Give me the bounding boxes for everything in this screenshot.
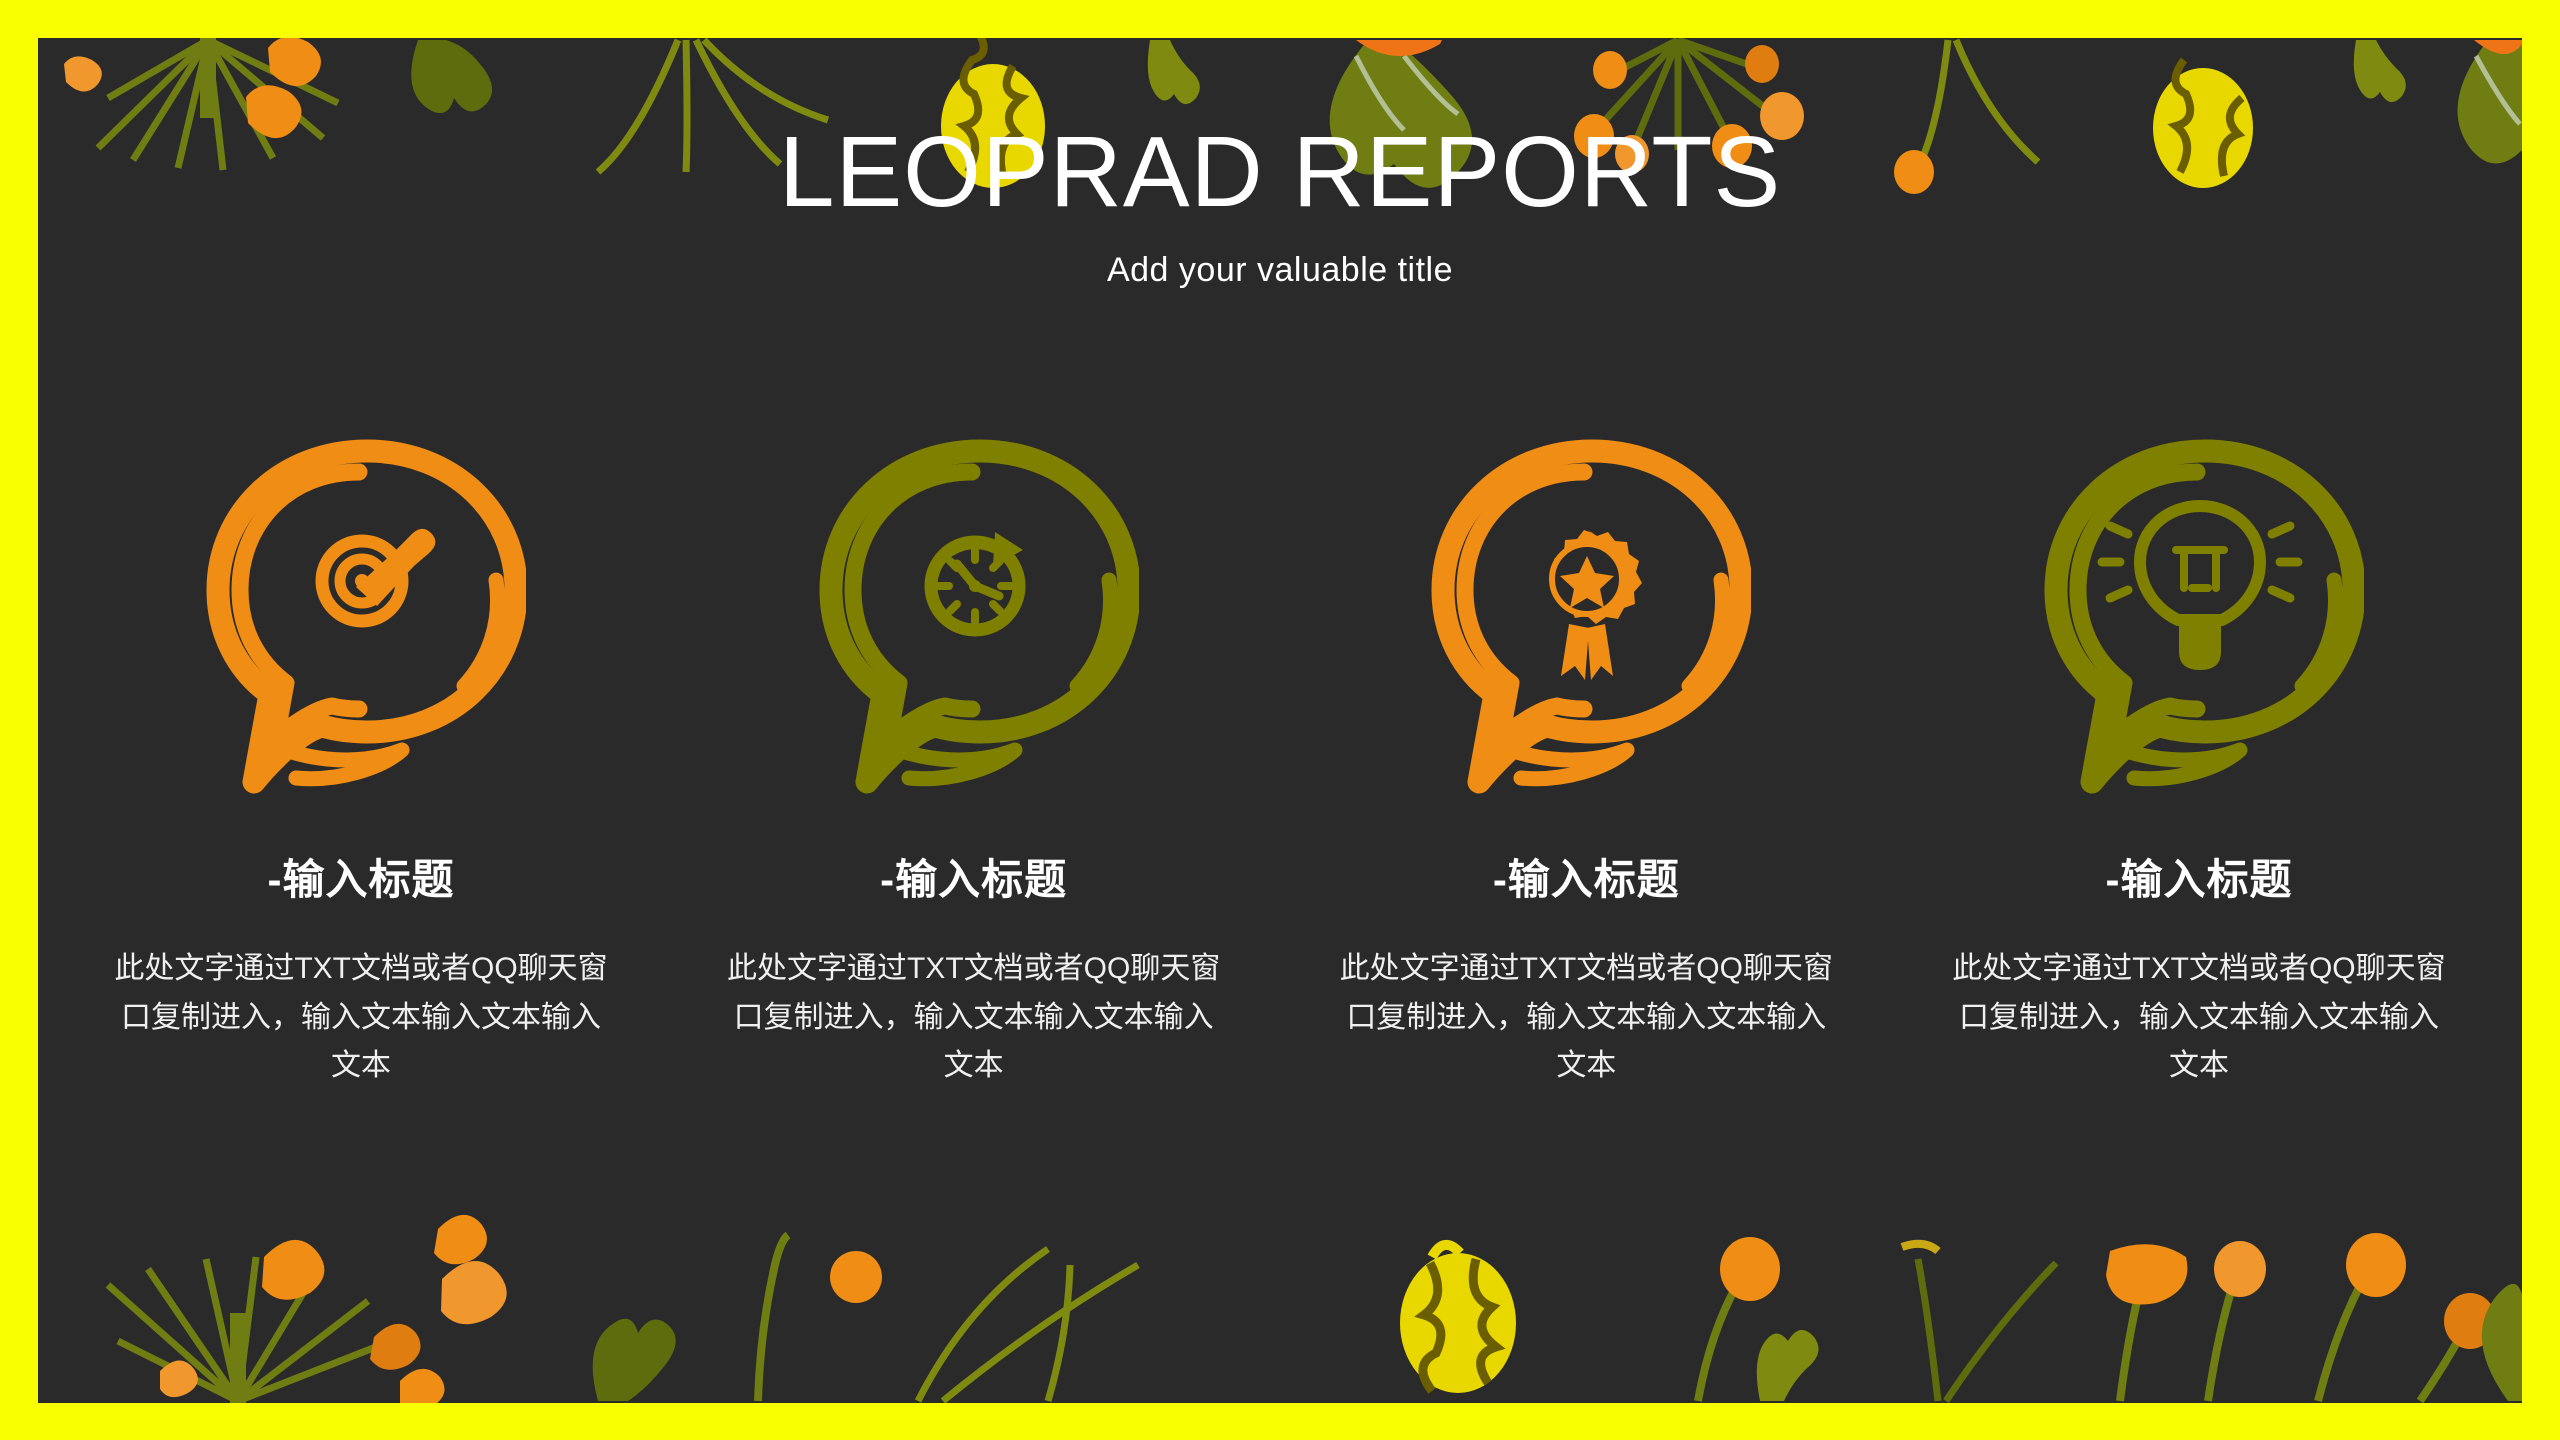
flora-group-b2 <box>593 1319 676 1401</box>
grass-frond <box>108 1257 386 1401</box>
slide-panel: LEOPRAD REPORTS Add your valuable title <box>38 38 2522 1403</box>
clock-bubble-icon-svg <box>809 438 1139 798</box>
flora-group-g2 <box>2106 1233 2496 1401</box>
flower-stem <box>2208 1281 2234 1401</box>
tulip-flower <box>830 1251 882 1303</box>
flora-group-h2 <box>2482 1284 2522 1401</box>
feature-heading: -输入标题 <box>1493 798 1680 907</box>
flower-stem <box>2120 1273 2144 1401</box>
flora-group-a2 <box>108 1215 507 1403</box>
feature-body: 此处文字通过TXT文档或者QQ聊天窗口复制进入，输入文本输入文本输入文本 <box>724 907 1224 1091</box>
tulip-flower <box>262 1240 324 1300</box>
tulip-flower <box>1720 1237 1780 1301</box>
bulb-base <box>2179 622 2221 670</box>
lightbulb-bubble-icon-svg <box>2034 438 2364 798</box>
flora-group-e2 <box>1698 1237 1819 1401</box>
feature-columns: -输入标题 此处文字通过TXT文档或者QQ聊天窗口复制进入，输入文本输入文本输入… <box>76 438 2484 1091</box>
target-bubble-icon[interactable] <box>196 438 526 798</box>
flora-group-c2 <box>758 1235 1138 1401</box>
award-ribbon-bubble-icon[interactable] <box>1421 438 1751 798</box>
tulip-flower <box>2106 1244 2187 1304</box>
flower-stem <box>1698 1283 1738 1401</box>
sprout <box>1757 1330 1819 1401</box>
target-bubble-icon-svg <box>196 438 526 798</box>
floral-border-bottom <box>38 1173 2522 1403</box>
flora-group-f2 <box>1918 1259 2056 1401</box>
page-subtitle: Add your valuable title <box>38 225 2522 290</box>
clock-center <box>969 580 981 592</box>
seed-pod-texture <box>1423 1259 1496 1391</box>
leaf-cluster <box>2482 1284 2522 1401</box>
floral-pattern-bottom-svg <box>38 1173 2522 1403</box>
flower-stem <box>2420 1333 2462 1401</box>
feature-heading: -输入标题 <box>880 798 1067 907</box>
grass-stem <box>230 1313 246 1403</box>
flora-group-d2 <box>1400 1245 1516 1393</box>
feature-heading: -输入标题 <box>2105 798 2292 907</box>
flower-stem <box>758 1235 788 1401</box>
feature-body: 此处文字通过TXT文档或者QQ聊天窗口复制进入，输入文本输入文本输入文本 <box>111 907 611 1091</box>
page-title: LEOPRAD REPORTS <box>38 38 2522 225</box>
slide-canvas: LEOPRAD REPORTS Add your valuable title <box>0 0 2560 1440</box>
ribbon-tail-left <box>1561 624 1589 680</box>
feature-column-2[interactable]: -输入标题 此处文字通过TXT文档或者QQ聊天窗口复制进入，输入文本输入文本输入… <box>689 438 1259 1091</box>
seed-pod-tip <box>1432 1245 1460 1257</box>
feature-body: 此处文字通过TXT文档或者QQ聊天窗口复制进入，输入文本输入文本输入文本 <box>1336 907 1836 1091</box>
feature-column-1[interactable]: -输入标题 此处文字通过TXT文档或者QQ聊天窗口复制进入，输入文本输入文本输入… <box>76 438 646 1091</box>
tulip-flower <box>370 1324 421 1370</box>
sprout <box>593 1319 676 1401</box>
feature-heading: -输入标题 <box>268 798 455 907</box>
clock-bubble-icon[interactable] <box>809 438 1139 798</box>
tulip-flower <box>400 1369 445 1403</box>
ribbon-tail-right <box>1587 624 1613 680</box>
tulip-flower <box>2346 1233 2406 1297</box>
feature-column-4[interactable]: -输入标题 此处文字通过TXT文档或者QQ聊天窗口复制进入，输入文本输入文本输入… <box>1914 438 2484 1091</box>
grass-blades <box>918 1249 1138 1401</box>
slide-header: LEOPRAD REPORTS Add your valuable title <box>38 38 2522 290</box>
seed-pod <box>1400 1253 1516 1393</box>
tulip-flower <box>2444 1293 2496 1349</box>
tulip-flower <box>2214 1241 2266 1297</box>
tulip-flower <box>160 1360 198 1397</box>
award-ribbon-bubble-icon-svg <box>1421 438 1751 798</box>
tulip-flower <box>441 1261 507 1324</box>
feature-body: 此处文字通过TXT文档或者QQ聊天窗口复制进入，输入文本输入文本输入文本 <box>1949 907 2449 1091</box>
bud-tip <box>1902 1244 1938 1251</box>
lightbulb-bubble-icon[interactable] <box>2034 438 2364 798</box>
flower-stem <box>2318 1271 2368 1401</box>
tulip-flower <box>434 1215 487 1264</box>
feature-column-3[interactable]: -输入标题 此处文字通过TXT文档或者QQ聊天窗口复制进入，输入文本输入文本输入… <box>1301 438 1871 1091</box>
